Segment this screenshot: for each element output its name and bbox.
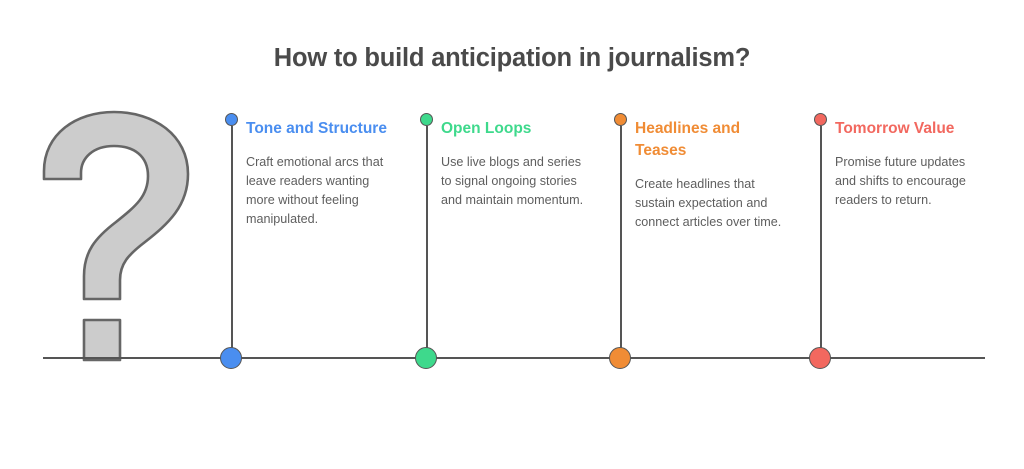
step-description: Use live blogs and series to signal ongo… [441,153,589,210]
connector-line [426,126,428,361]
step-description: Create headlines that sustain expectatio… [635,175,783,232]
step-heading: Tomorrow Value [835,118,987,140]
step-heading: Headlines and Teases [635,118,783,162]
baseline-marker-dot[interactable] [415,347,437,369]
step-text-block: Tomorrow Value Promise future updates an… [835,118,987,210]
step-text-block: Open Loops Use live blogs and series to … [441,118,589,210]
step-description: Promise future updates and shifts to enc… [835,153,987,210]
connector-line [231,126,233,361]
top-marker-dot [420,113,433,126]
step-text-block: Tone and Structure Craft emotional arcs … [246,118,394,229]
step-text-block: Headlines and Teases Create headlines th… [635,118,783,232]
connector-line [620,126,622,361]
timeline-baseline [43,357,985,359]
step-heading: Tone and Structure [246,118,394,140]
connector-line [820,126,822,361]
top-marker-dot [225,113,238,126]
question-mark-icon [38,108,198,364]
top-marker-dot [614,113,627,126]
top-marker-dot [814,113,827,126]
baseline-marker-dot[interactable] [809,347,831,369]
infographic-canvas: How to build anticipation in journalism?… [0,0,1024,469]
step-description: Craft emotional arcs that leave readers … [246,153,394,229]
page-title: How to build anticipation in journalism? [0,44,1024,73]
baseline-marker-dot[interactable] [220,347,242,369]
baseline-marker-dot[interactable] [609,347,631,369]
step-heading: Open Loops [441,118,589,140]
